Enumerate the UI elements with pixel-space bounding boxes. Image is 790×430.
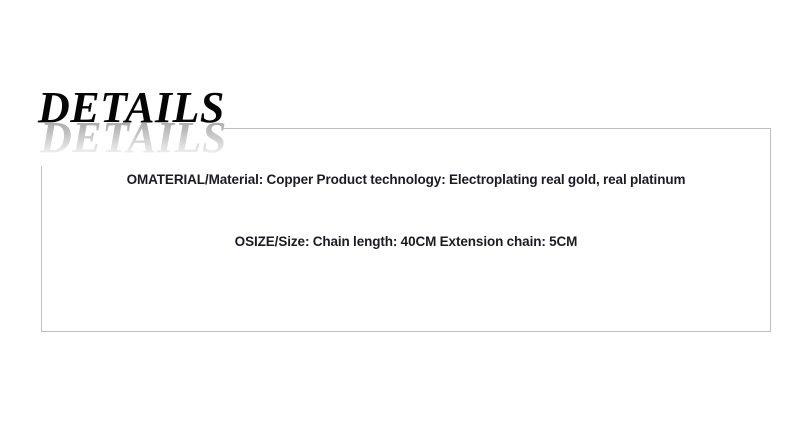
details-content: OMATERIAL/Material: Copper Product techn…	[41, 128, 771, 332]
spec-size: OSIZE/Size: Chain length: 40CM Extension…	[103, 232, 709, 252]
product-details-page: DETAILS DETAILS OMATERIAL/Material: Copp…	[0, 0, 790, 430]
page-title: DETAILS	[38, 86, 225, 130]
spec-material: OMATERIAL/Material: Copper Product techn…	[103, 170, 709, 190]
